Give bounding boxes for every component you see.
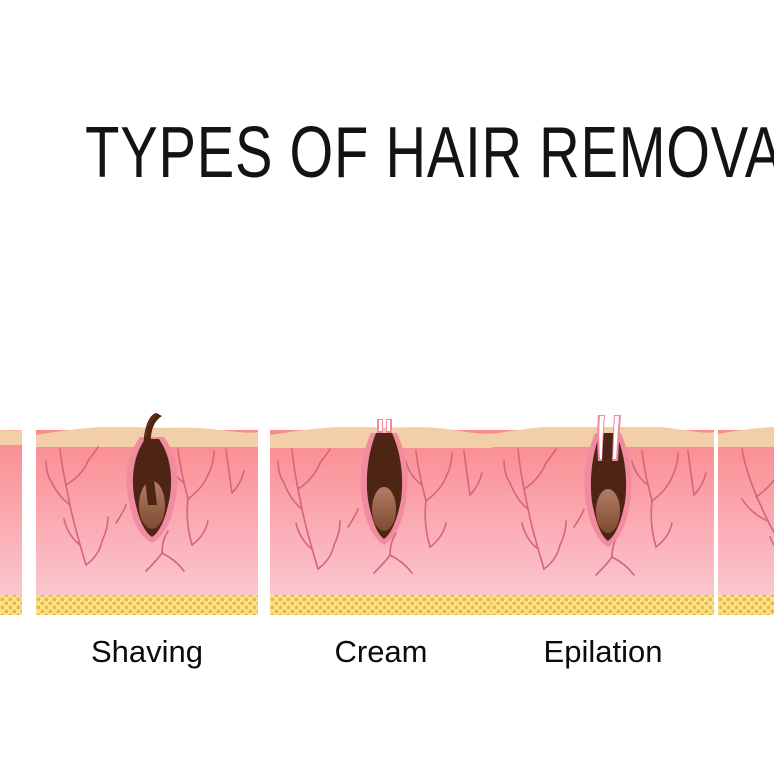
skin-cross-section bbox=[270, 419, 492, 615]
fat-layer bbox=[270, 595, 492, 615]
fat-layer bbox=[36, 595, 258, 615]
epidermis-layer bbox=[718, 426, 774, 447]
fat-layer bbox=[718, 595, 774, 615]
panel-row: Shaving Cream Epilation bbox=[0, 0, 774, 774]
skin-panel-partial-left bbox=[0, 413, 22, 615]
skin-panel-partial-right bbox=[718, 413, 774, 615]
skin-panel-shaving bbox=[36, 413, 258, 615]
hair-bulb bbox=[372, 487, 396, 531]
panel-label-shaving: Shaving bbox=[36, 634, 258, 670]
infographic-canvas: TYPES OF HAIR REMOVAL bbox=[0, 0, 774, 774]
dermis-layer bbox=[718, 430, 774, 595]
panel-label-cream: Cream bbox=[270, 634, 492, 670]
skin-panel-cream bbox=[270, 413, 492, 615]
skin-cross-section bbox=[0, 424, 22, 615]
skin-cross-section bbox=[36, 413, 258, 615]
skin-panel-epilation bbox=[492, 413, 714, 615]
stub-cut-tip-right bbox=[387, 420, 390, 431]
epidermis-layer bbox=[0, 424, 22, 445]
stub-cut-tip-left bbox=[379, 420, 382, 431]
skin-cross-section bbox=[718, 426, 774, 615]
fat-layer bbox=[0, 595, 22, 615]
dermis-layer bbox=[0, 430, 22, 595]
panel-label-epilation: Epilation bbox=[492, 634, 714, 670]
fat-layer bbox=[492, 595, 714, 615]
skin-cross-section bbox=[492, 415, 714, 615]
hair-bulb bbox=[596, 489, 620, 533]
